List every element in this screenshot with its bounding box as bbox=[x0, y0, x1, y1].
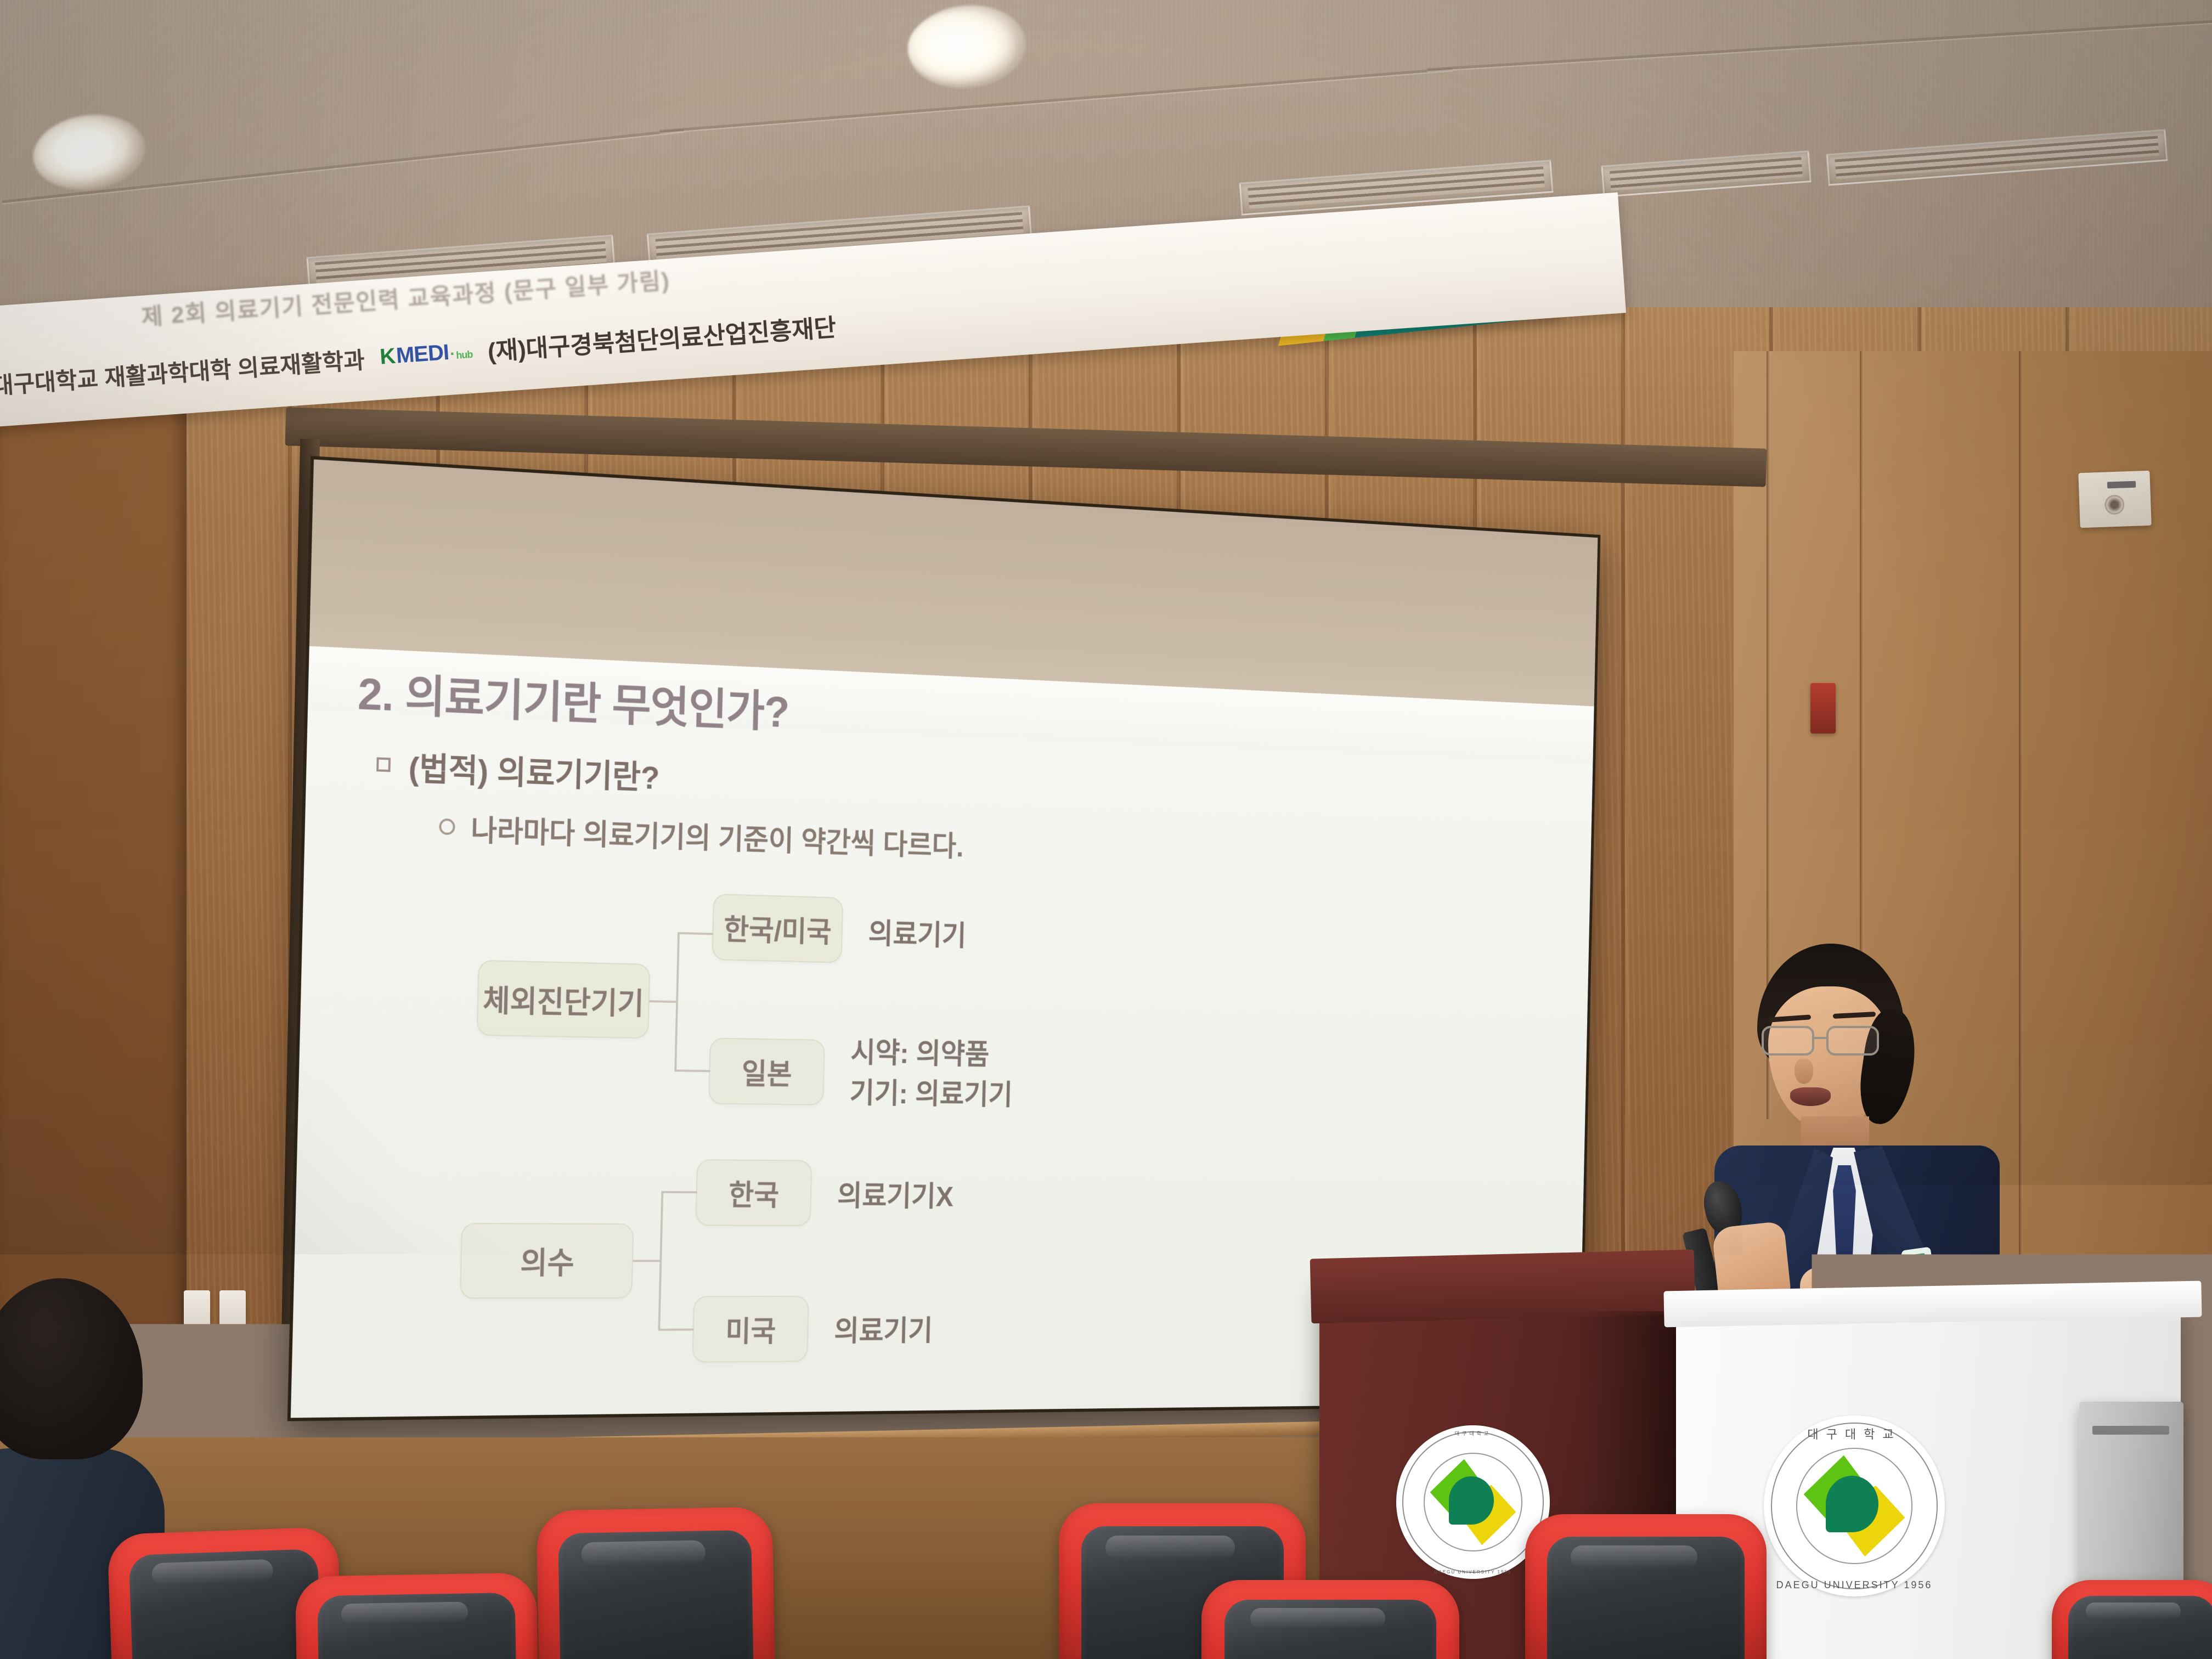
square-bullet-icon bbox=[376, 758, 391, 772]
emblem-logo-mark bbox=[1430, 1459, 1516, 1545]
wall-alarm-indicator bbox=[1810, 683, 1836, 733]
speaker-nose bbox=[1795, 1059, 1813, 1084]
diagram-1-root-node: 체외진단기기 bbox=[477, 960, 651, 1039]
diagram-2-branches: 한국 의료기기X 미국 의료기기 bbox=[692, 1159, 955, 1363]
kmedi-logo-dot: · bbox=[449, 345, 455, 364]
wall-speaker-panel bbox=[2078, 471, 2151, 528]
diagram-1-branch-1: 한국/미국 의료기기 bbox=[712, 894, 1017, 967]
connector-stub bbox=[650, 1000, 678, 1003]
emblem-english-name: DAEGU UNIVERSITY 1956 bbox=[1764, 1579, 1945, 1591]
diagram-1-branches: 한국/미국 의료기기 일본 시약: 의약품 기기: 의료기기 bbox=[708, 894, 1017, 1115]
university-emblem: 대구대학교 DAEGU UNIVERSITY 1956 bbox=[1764, 1415, 1945, 1596]
diagram-1-connector bbox=[647, 913, 713, 1091]
speaker-grille-hole bbox=[2104, 494, 2125, 515]
kmedi-logo-medi: MEDI bbox=[396, 340, 450, 369]
kmedi-logo-k: K bbox=[379, 343, 396, 369]
diagram-1-branch-2-node: 일본 bbox=[708, 1037, 825, 1105]
wall-switch-plate[interactable] bbox=[184, 1290, 210, 1337]
auditorium-seat bbox=[1201, 1580, 1459, 1659]
emblem-korean-name: 대구대학교 bbox=[1764, 1425, 1945, 1442]
equipment-slot bbox=[2092, 1426, 2169, 1435]
wall-switch-plate[interactable] bbox=[219, 1290, 246, 1337]
diagram-2-branch-2: 미국 의료기기 bbox=[692, 1295, 951, 1362]
diagram-1-branch-2-label: 시약: 의약품 기기: 의료기기 bbox=[849, 1032, 1014, 1115]
diagram-1-branch-2-label-line1: 시약: 의약품 bbox=[850, 1032, 1014, 1075]
diagram-1-branch-2-label-line2: 기기: 의료기기 bbox=[849, 1073, 1013, 1115]
diagram-2-branch-2-label: 의료기기 bbox=[834, 1307, 933, 1349]
seat-cushion bbox=[1547, 1537, 1745, 1659]
seat-cushion bbox=[558, 1530, 754, 1659]
speaker-label-bar bbox=[2107, 481, 2136, 489]
auditorium-seat bbox=[2052, 1580, 2212, 1659]
banner-org-right: (재)대구경북첨단의료산업진흥재단 bbox=[487, 308, 837, 367]
connector-stub bbox=[678, 932, 713, 935]
auditorium-seat bbox=[536, 1506, 775, 1659]
auditorium-seat bbox=[1525, 1514, 1767, 1659]
seat-cushion bbox=[1224, 1600, 1436, 1659]
eyeglass-bridge bbox=[1814, 1037, 1826, 1039]
diagram-1-branch-1-node: 한국/미국 bbox=[712, 894, 843, 963]
diagram-2-branch-1-node: 한국 bbox=[695, 1159, 812, 1226]
seat-cushion bbox=[317, 1593, 517, 1659]
eyeglass-lens bbox=[1826, 1026, 1879, 1056]
eyeglass-lens bbox=[1762, 1026, 1814, 1056]
slide-bullet-level1-text: (법적) 의료기기란? bbox=[408, 742, 661, 799]
auditorium-seat bbox=[295, 1572, 539, 1659]
emblem-teal-shape bbox=[1826, 1476, 1878, 1532]
connector-stub bbox=[674, 1070, 710, 1073]
circle-bullet-icon bbox=[439, 819, 455, 836]
diagram-1-branch-2: 일본 시약: 의약품 기기: 의료기기 bbox=[708, 1030, 1014, 1115]
connector-stub bbox=[633, 1260, 661, 1262]
seat-cushion bbox=[2068, 1596, 2212, 1659]
slide-diagram-2: 의수 한국 의료기기X 미국 의료기기 bbox=[458, 1157, 954, 1364]
diagram-2-branch-1: 한국 의료기기X bbox=[695, 1159, 954, 1227]
connector-stub bbox=[661, 1191, 697, 1193]
kmedi-logo-hub: hub bbox=[456, 348, 473, 361]
emblem-korean-name: 대구대학교 bbox=[1396, 1430, 1550, 1437]
diagram-2-root-node: 의수 bbox=[460, 1223, 634, 1299]
slide-bullet-level2-text: 나라마다 의료기기의 기준이 약간씩 다르다. bbox=[470, 806, 964, 865]
ceiling-downlight bbox=[908, 12, 1015, 83]
emblem-teal-shape bbox=[1449, 1476, 1494, 1525]
diagram-1-branch-1-label: 의료기기 bbox=[868, 910, 967, 954]
diagram-2-branch-2-node: 미국 bbox=[692, 1296, 809, 1363]
slide-diagram-1: 체외진단기기 한국/미국 의료기기 일본 bbox=[475, 887, 1017, 1115]
eyeglasses-icon bbox=[1757, 1026, 1904, 1058]
connector-stub bbox=[658, 1328, 693, 1330]
diagram-2-branch-1-label: 의료기기X bbox=[837, 1172, 954, 1215]
speaker-mouth bbox=[1790, 1087, 1831, 1106]
seat-cushion bbox=[128, 1549, 322, 1659]
kmedi-hub-logo-icon: KMEDI·hub bbox=[379, 338, 473, 370]
lecture-hall-photo: 2. 의료기기란 무엇인가? (법적) 의료기기란? 나라마다 의료기기의 기준… bbox=[0, 0, 2212, 1659]
slide-bullet-level1: (법적) 의료기기란? bbox=[376, 741, 660, 798]
emblem-logo-mark bbox=[1804, 1455, 1905, 1557]
slide-bullet-level2: 나라마다 의료기기의 기준이 약간씩 다르다. bbox=[439, 805, 964, 865]
banner-org-left: 대구대학교 재활과학대학 의료재활학과 bbox=[0, 341, 366, 400]
diagram-2-connector bbox=[631, 1172, 697, 1349]
